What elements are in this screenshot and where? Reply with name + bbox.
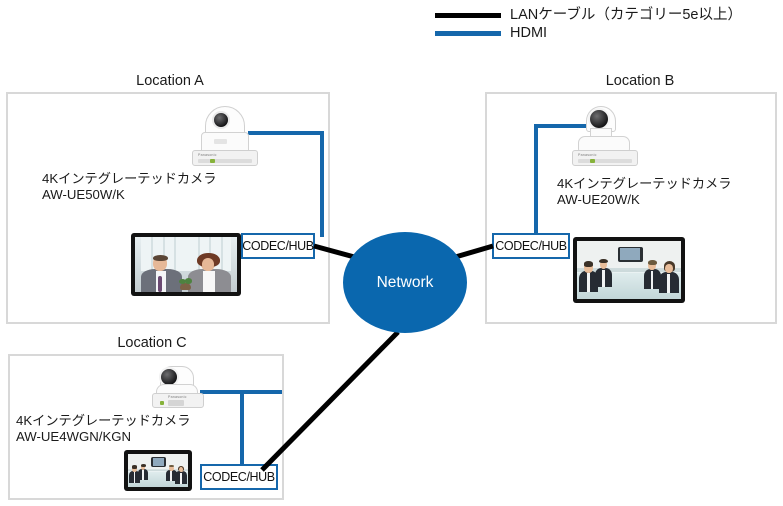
lan-line-swatch: [435, 13, 501, 18]
hdmi-cable-a-horizontal: [248, 131, 324, 135]
legend: LANケーブル（カテゴリー5e以上） HDMI: [435, 2, 783, 44]
legend-item-lan: LANケーブル（カテゴリー5e以上）: [435, 5, 742, 25]
location-a-device-model: AW-UE50W/K: [42, 187, 216, 203]
location-a-codec-hub[interactable]: CODEC/HUB: [241, 233, 315, 259]
location-c-monitor: [124, 450, 192, 491]
network-node: Network: [343, 232, 467, 333]
location-b-codec-hub[interactable]: CODEC/HUB: [492, 233, 570, 259]
location-c-device-name: 4Kインテグレーテッドカメラ: [16, 413, 190, 429]
location-b-device-model: AW-UE20W/K: [557, 192, 731, 208]
location-b-title: Location B: [530, 73, 750, 89]
location-a-device-name: 4Kインテグレーテッドカメラ: [42, 171, 216, 187]
location-c-device-caption: 4Kインテグレーテッドカメラ AW-UE4WGN/KGN: [16, 413, 190, 445]
network-diagram: LANケーブル（カテゴリー5e以上） HDMI Location A Panas…: [0, 0, 783, 506]
legend-label-hdmi: HDMI: [510, 26, 547, 41]
camera-aw-ue4wgn: Panasonic: [150, 366, 206, 410]
legend-label-lan: LANケーブル（カテゴリー5e以上）: [510, 8, 742, 23]
location-a-monitor: [131, 233, 241, 296]
location-c-device-model: AW-UE4WGN/KGN: [16, 429, 190, 445]
location-c-codec-label: CODEC/HUB: [203, 470, 274, 484]
location-a-monitor-screen: [135, 237, 237, 292]
location-b-monitor: [573, 237, 685, 303]
network-label: Network: [377, 274, 434, 292]
hdmi-line-swatch: [435, 31, 501, 36]
location-b-codec-label: CODEC/HUB: [495, 239, 566, 253]
location-c-title: Location C: [42, 335, 262, 351]
hdmi-cable-c-vertical: [240, 390, 244, 466]
hdmi-cable-b-vertical: [534, 124, 538, 237]
location-c-codec-hub[interactable]: CODEC/HUB: [200, 464, 278, 490]
location-a-title: Location A: [60, 73, 280, 89]
location-b-device-caption: 4Kインテグレーテッドカメラ AW-UE20W/K: [557, 176, 731, 208]
camera-aw-ue20w: Panasonic: [570, 106, 640, 168]
hdmi-cable-a-vertical: [320, 131, 324, 237]
legend-item-hdmi: HDMI: [435, 23, 547, 43]
location-c-monitor-screen: [128, 454, 188, 487]
location-b-device-name: 4Kインテグレーテッドカメラ: [557, 176, 731, 192]
location-b-monitor-screen: [577, 241, 681, 299]
camera-aw-ue50w: Panasonic: [192, 106, 258, 168]
location-a-device-caption: 4Kインテグレーテッドカメラ AW-UE50W/K: [42, 171, 216, 203]
location-a-codec-label: CODEC/HUB: [242, 239, 313, 253]
